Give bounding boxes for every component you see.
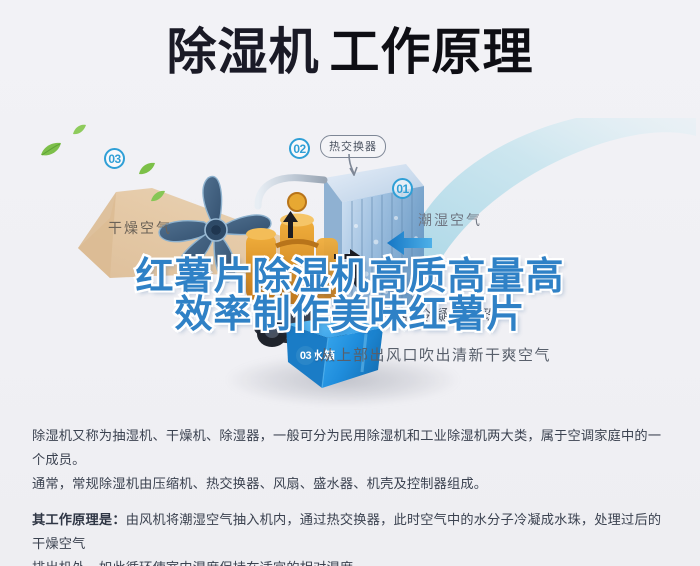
label-humid-air: 潮湿空气 (418, 210, 482, 230)
legend-line-02: 器冷凝成水珠 (400, 304, 499, 325)
badge-03-dry-air: 03 (104, 148, 125, 169)
page-title-part1: 除湿机 (167, 24, 320, 80)
badge-03-legend: 03 (296, 346, 315, 365)
paragraph-2-line-2: 排出机外，如此循环使室内湿度保持在适宜的相对湿度。 (32, 556, 672, 566)
page-title: 除湿机工作原理 (0, 26, 700, 79)
inlet-arrow-icon (386, 230, 432, 256)
paragraph-2-prefix: 其工作原理是： (32, 512, 126, 527)
page-title-part2: 工作原理 (330, 24, 534, 80)
paragraph-1-line-1: 除湿机又称为抽湿机、干燥机、除湿器，一般可分为民用除湿机和工业除湿机两大类，属于… (32, 424, 672, 472)
leaf-icon (72, 124, 87, 136)
badge-02-heat-exchanger: 02 (289, 138, 310, 159)
legend-line-03: 从上部出风口吹出清新干爽空气 (320, 344, 551, 365)
dehumidifier-diagram: 水箱 03 02 01 03 热交换器 干燥空气 潮湿空气 器冷凝成水珠 从上部 (0, 118, 700, 403)
paragraph-1-line-2: 通常，常规除湿机由压缩机、热交换器、风扇、盛水器、机壳及控制器组成。 (32, 472, 672, 496)
callout-pointer-icon (346, 154, 360, 176)
infographic-page: 除湿机工作原理 (0, 0, 700, 566)
badge-01-humid-air: 01 (392, 178, 413, 199)
label-dry-air: 干燥空气 (108, 218, 172, 238)
leaf-icon (40, 142, 62, 158)
paragraph-2-body: 由风机将潮湿空气抽入机内，通过热交换器，此时空气中的水分子冷凝成水珠，处理过后的… (32, 512, 661, 551)
description-text: 除湿机又称为抽湿机、干燥机、除湿器，一般可分为民用除湿机和工业除湿机两大类，属于… (32, 424, 672, 566)
paragraph-2-line-1: 其工作原理是：由风机将潮湿空气抽入机内，通过热交换器，此时空气中的水分子冷凝成水… (32, 508, 672, 556)
paragraph-spacer (32, 496, 672, 508)
